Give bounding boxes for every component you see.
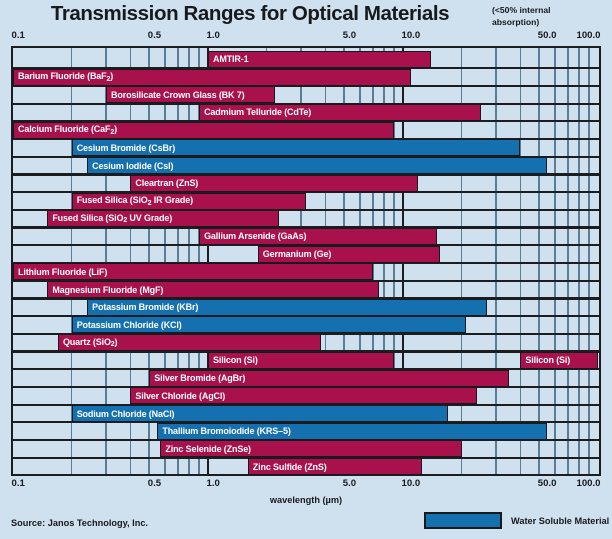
bar-label: Cesium Bromide (CsBr) [73,143,175,153]
bar-label: Potassium Chloride (KCl) [73,320,182,330]
bar-thallium-bromoiodide-krs-5[interactable]: Thallium Bromoiodide (KRS–5) [157,423,547,440]
bar-label: Magnesium Fluoride (MgF) [48,285,163,295]
x-axis-label: wavelength (µm) [0,495,612,505]
legend-swatch-water-soluble [424,512,502,529]
x-tick-50-0: 50.0 [538,478,557,489]
bar-lithium-fluoride-lif[interactable]: Lithium Fluoride (LiF) [13,263,373,280]
bar-gallium-arsenide-gaas[interactable]: Gallium Arsenide (GaAs) [199,228,437,245]
bar-label: Lithium Fluoride (LiF) [14,267,107,277]
x-tick-0-1: 0.1 [12,30,25,41]
bar-germanium-ge[interactable]: Germanium (Ge) [258,246,440,263]
bar-zinc-sulfide-zns[interactable]: Zinc Sulfide (ZnS) [248,458,422,475]
bar-calcium-fluoride-caf2[interactable]: Calcium Fluoride (CaF2) [13,122,394,139]
bar-potassium-chloride-kcl[interactable]: Potassium Chloride (KCl) [72,316,466,333]
x-tick-0-5: 0.5 [148,478,161,489]
bar-zinc-selenide-znse[interactable]: Zinc Selenide (ZnSe) [160,440,461,457]
bar-magnesium-fluoride-mgf[interactable]: Magnesium Fluoride (MgF) [47,281,378,298]
bar-silver-chloride-agcl[interactable]: Silver Chloride (AgCl) [130,387,477,404]
bar-series: AMTIR-1Barium Fluoride (BaF2)Borosilicat… [13,48,599,474]
bar-amtir-1[interactable]: AMTIR-1 [208,51,431,68]
bar-label: Thallium Bromoiodide (KRS–5) [158,426,290,436]
legend: Water Soluble Material [424,512,609,529]
bar-barium-fluoride-baf2[interactable]: Barium Fluoride (BaF2) [13,69,411,86]
bar-label: Borosilicate Crown Glass (BK 7) [107,90,244,100]
bar-label: Sodium Chloride (NaCl) [73,409,175,419]
bar-label: Quartz (SiO2) [59,337,117,349]
bar-label: Silicon (Si) [521,355,570,365]
bar-label: Fused Silica (SiO2 UV Grade) [48,213,172,225]
page-title: Transmission Ranges for Optical Material… [0,2,500,26]
x-tick-5-0: 5.0 [343,30,356,41]
bar-silicon-si[interactable]: Silicon (Si) [208,352,394,369]
legend-label-water-soluble: Water Soluble Material [511,516,609,526]
x-axis-top: 0.10.51.05.010.050.0100.0 [0,30,612,44]
bar-label: AMTIR-1 [209,54,248,64]
bar-label: Zinc Sulfide (ZnS) [249,462,327,472]
x-tick-5-0: 5.0 [343,478,356,489]
bar-borosilicate-crown-glass-bk-7[interactable]: Borosilicate Crown Glass (BK 7) [106,86,275,103]
bar-label: Silver Chloride (AgCl) [131,391,225,401]
bar-label: Zinc Selenide (ZnSe) [161,444,251,454]
x-tick-10-0: 10.0 [402,478,421,489]
x-tick-1-0: 1.0 [207,478,220,489]
x-tick-50-0: 50.0 [538,30,557,41]
bar-label: Barium Fluoride (BaF2) [14,71,113,83]
bar-label: Germanium (Ge) [259,249,331,259]
bar-cadmium-telluride-cdte[interactable]: Cadmium Telluride (CdTe) [199,104,481,121]
bar-cleartran-zns[interactable]: Cleartran (ZnS) [130,175,418,192]
x-tick-10-0: 10.0 [402,30,421,41]
plot-area: AMTIR-1Barium Fluoride (BaF2)Borosilicat… [11,46,601,476]
bar-silver-bromide-agbr[interactable]: Silver Bromide (AgBr) [149,370,509,387]
x-tick-100-0: 100.0 [576,478,600,489]
x-tick-1-0: 1.0 [207,30,220,41]
source-credit: Source: Janos Technology, Inc. [11,518,148,528]
bar-label: Calcium Fluoride (CaF2) [14,124,117,136]
bar-label: Fused Silica (SiO2 IR Grade) [73,195,193,207]
bar-label: Cesium Iodide (CsI) [88,161,173,171]
bar-cesium-iodide-csi[interactable]: Cesium Iodide (CsI) [87,157,547,174]
bar-potassium-bromide-kbr[interactable]: Potassium Bromide (KBr) [87,299,487,316]
bar-fused-silica-sio2-ir-grade[interactable]: Fused Silica (SiO2 IR Grade) [72,193,307,210]
chart-page: Transmission Ranges for Optical Material… [0,0,612,539]
bar-silicon-si[interactable]: Silicon (Si) [520,352,598,369]
absorption-note-line2: absorption) [492,17,610,29]
bar-fused-silica-sio2-uv-grade[interactable]: Fused Silica (SiO2 UV Grade) [47,210,278,227]
bar-quartz-sio2[interactable]: Quartz (SiO2) [58,334,321,351]
bar-label: Cadmium Telluride (CdTe) [200,107,311,117]
bar-label: Cleartran (ZnS) [131,178,198,188]
bar-label: Potassium Bromide (KBr) [88,302,198,312]
bar-label: Gallium Arsenide (GaAs) [200,231,306,241]
x-axis-bottom: 0.10.51.05.010.050.0100.0 [0,478,612,492]
bar-cesium-bromide-csbr[interactable]: Cesium Bromide (CsBr) [72,139,521,156]
bar-sodium-chloride-nacl[interactable]: Sodium Chloride (NaCl) [72,405,448,422]
bar-label: Silver Bromide (AgBr) [150,373,245,383]
x-tick-0-5: 0.5 [148,30,161,41]
x-tick-100-0: 100.0 [576,30,600,41]
x-tick-0-1: 0.1 [12,478,25,489]
absorption-note: (<50% internal absorption) [492,5,610,28]
absorption-note-line1: (<50% internal [492,5,610,17]
bar-label: Silicon (Si) [209,355,258,365]
